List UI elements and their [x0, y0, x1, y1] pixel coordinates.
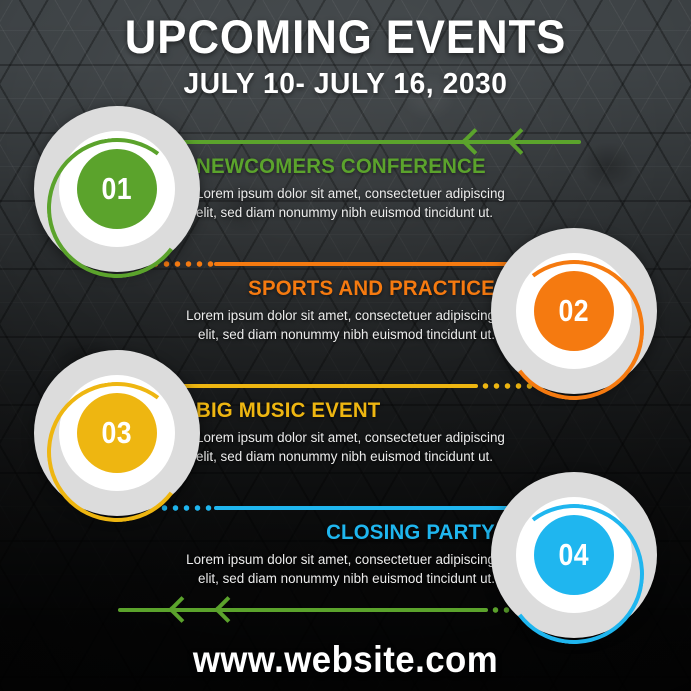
event-title: CLOSING PARTY [182, 520, 496, 545]
event-description: Lorem ipsum dolor sit amet, consectetuer… [196, 429, 526, 466]
event-title: NEWCOMERS CONFERENCE [196, 154, 510, 179]
date-range-subtitle: JULY 10- JULY 16, 2030 [10, 68, 680, 101]
page-title: UPCOMING EVENTS [24, 13, 667, 61]
event-poster: UPCOMING EVENTS JULY 10- JULY 16, 2030 0… [0, 0, 691, 691]
arrow-left-icon [168, 596, 195, 623]
events-timeline: 01 NEWCOMERS CONFERENCE Lorem ipsum dolo… [0, 0, 691, 691]
event-text-3: BIG MUSIC EVENT Lorem ipsum dolor sit am… [196, 398, 526, 466]
arrow-left-icon [461, 128, 488, 155]
website-url[interactable]: www.website.com [21, 639, 671, 681]
event-title: SPORTS AND PRACTICE [182, 276, 496, 301]
arrow-left-icon [507, 128, 534, 155]
poster-header: UPCOMING EVENTS JULY 10- JULY 16, 2030 [0, 0, 691, 101]
arrow-left-icon [214, 596, 241, 623]
event-text-4: CLOSING PARTY Lorem ipsum dolor sit amet… [165, 520, 495, 588]
event-text-2: SPORTS AND PRACTICE Lorem ipsum dolor si… [165, 276, 495, 344]
event-description: Lorem ipsum dolor sit amet, consectetuer… [196, 185, 526, 222]
event-title: BIG MUSIC EVENT [196, 398, 510, 423]
poster-footer: www.website.com [0, 639, 691, 681]
event-description: Lorem ipsum dolor sit amet, consectetuer… [165, 551, 495, 588]
event-text-1: NEWCOMERS CONFERENCE Lorem ipsum dolor s… [196, 154, 526, 222]
event-description: Lorem ipsum dolor sit amet, consectetuer… [165, 307, 495, 344]
